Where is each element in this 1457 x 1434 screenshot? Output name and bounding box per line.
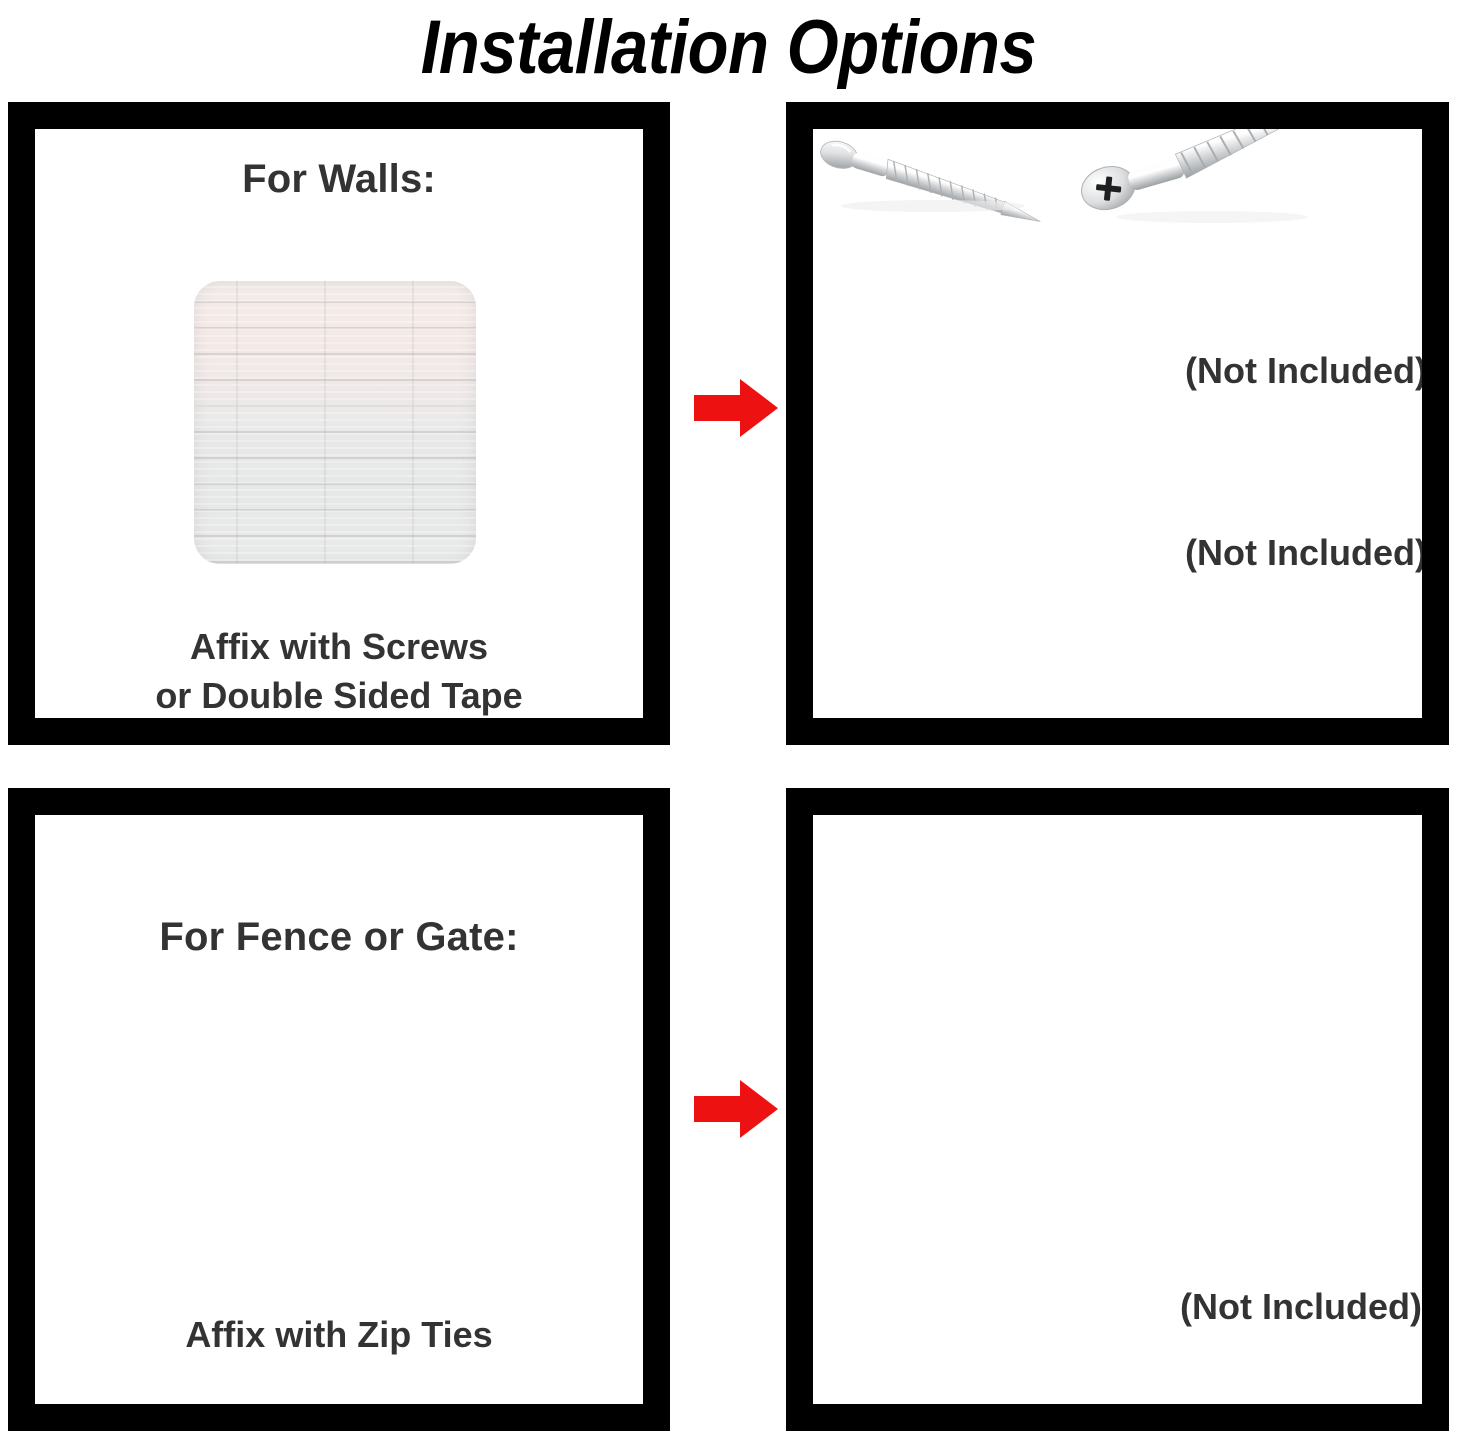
page-title: Installation Options <box>87 0 1369 96</box>
panel-for-fence-heading: For Fence or Gate: <box>35 915 643 960</box>
panel-for-fence-caption: Affix with Zip Ties <box>35 1311 643 1359</box>
panel-for-walls-caption-line1: Affix with Screws <box>35 623 643 671</box>
panel-for-walls-heading: For Walls: <box>35 157 643 202</box>
tape-not-included-label: (Not Included) <box>813 347 1422 395</box>
silver-screw-lower-icon <box>1072 129 1337 224</box>
panel-fence-hardware-inner: (Not Included) <box>813 815 1422 1404</box>
panel-wall-hardware-inner: (Not Included) <box>813 129 1422 718</box>
panel-for-walls-inner: For Walls: Affix with Screws or Double S… <box>35 129 643 718</box>
silver-screw-upper-icon <box>813 134 1068 224</box>
red-right-arrow-icon <box>692 377 780 439</box>
white-brick-wall-swatch <box>194 281 476 564</box>
zipties-not-included-label: (Not Included) <box>813 1283 1422 1331</box>
panel-fence-hardware: (Not Included) <box>786 788 1449 1431</box>
panel-for-fence-or-gate-inner: For Fence or Gate: <box>35 815 643 1404</box>
red-right-arrow-icon <box>692 1078 780 1140</box>
screws-not-included-label: (Not Included) <box>813 529 1422 577</box>
panel-for-fence-or-gate: For Fence or Gate: <box>8 788 670 1431</box>
panel-for-walls-caption-line2: or Double Sided Tape <box>35 672 643 718</box>
panel-for-walls: For Walls: Affix with Screws or Double S… <box>8 102 670 745</box>
panel-wall-hardware: (Not Included) <box>786 102 1449 745</box>
